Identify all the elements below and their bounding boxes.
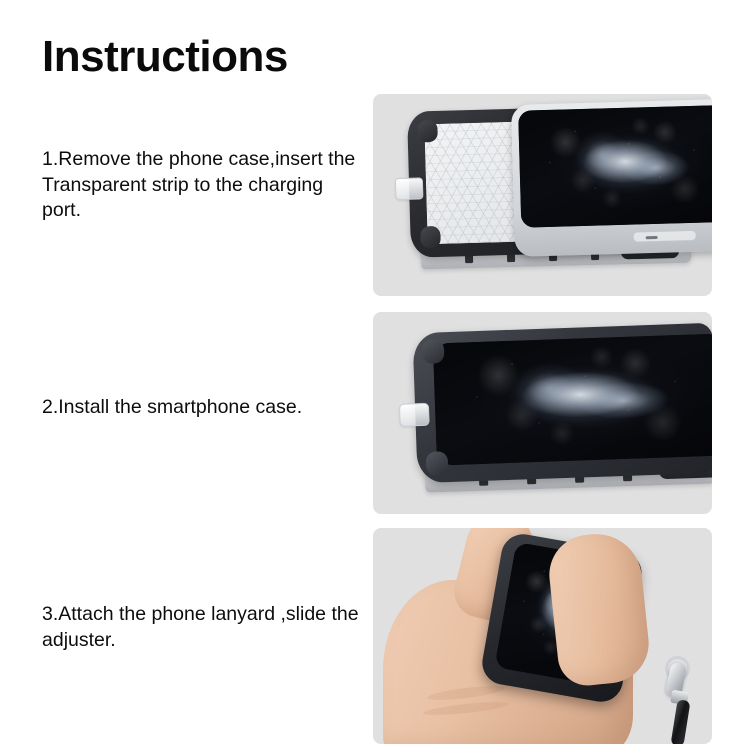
instruction-step-3: 3.Attach the phone lanyard ,slide the ad… [42,602,367,653]
case-and-phone-scene [373,94,712,296]
case-corner-bumper [417,120,438,143]
step-2-image-panel [373,312,712,514]
wave-wallpaper [518,105,712,228]
hand-crease [423,700,509,718]
case-corner-bumper [426,451,449,476]
hand-holding-phone-scene [373,528,712,744]
instruction-steps-list: 1.Remove the phone case,insert the Trans… [42,90,367,740]
phone-screen [433,334,712,466]
phone-case-with-phone [412,323,712,483]
phone-speaker-slot [646,236,658,239]
hand-crease [427,683,506,702]
transparent-strip [399,403,430,427]
step-1-image-panel [373,94,712,296]
instruction-step-1: 1.Remove the phone case,insert the Trans… [42,147,367,224]
phone-screen [518,105,712,228]
phone-installed-scene [373,312,712,514]
step-3-image-panel [373,528,712,744]
smartphone [511,99,712,257]
page-title: Instructions [42,34,288,80]
lanyard-cord [670,699,690,744]
wave-wallpaper [433,334,712,466]
transparent-strip [395,177,424,200]
phone-speaker-grille [633,230,697,243]
case-corner-bumper [420,226,441,249]
case-corner-bumper [422,339,445,364]
instruction-step-2: 2.Install the smartphone case. [42,395,367,421]
